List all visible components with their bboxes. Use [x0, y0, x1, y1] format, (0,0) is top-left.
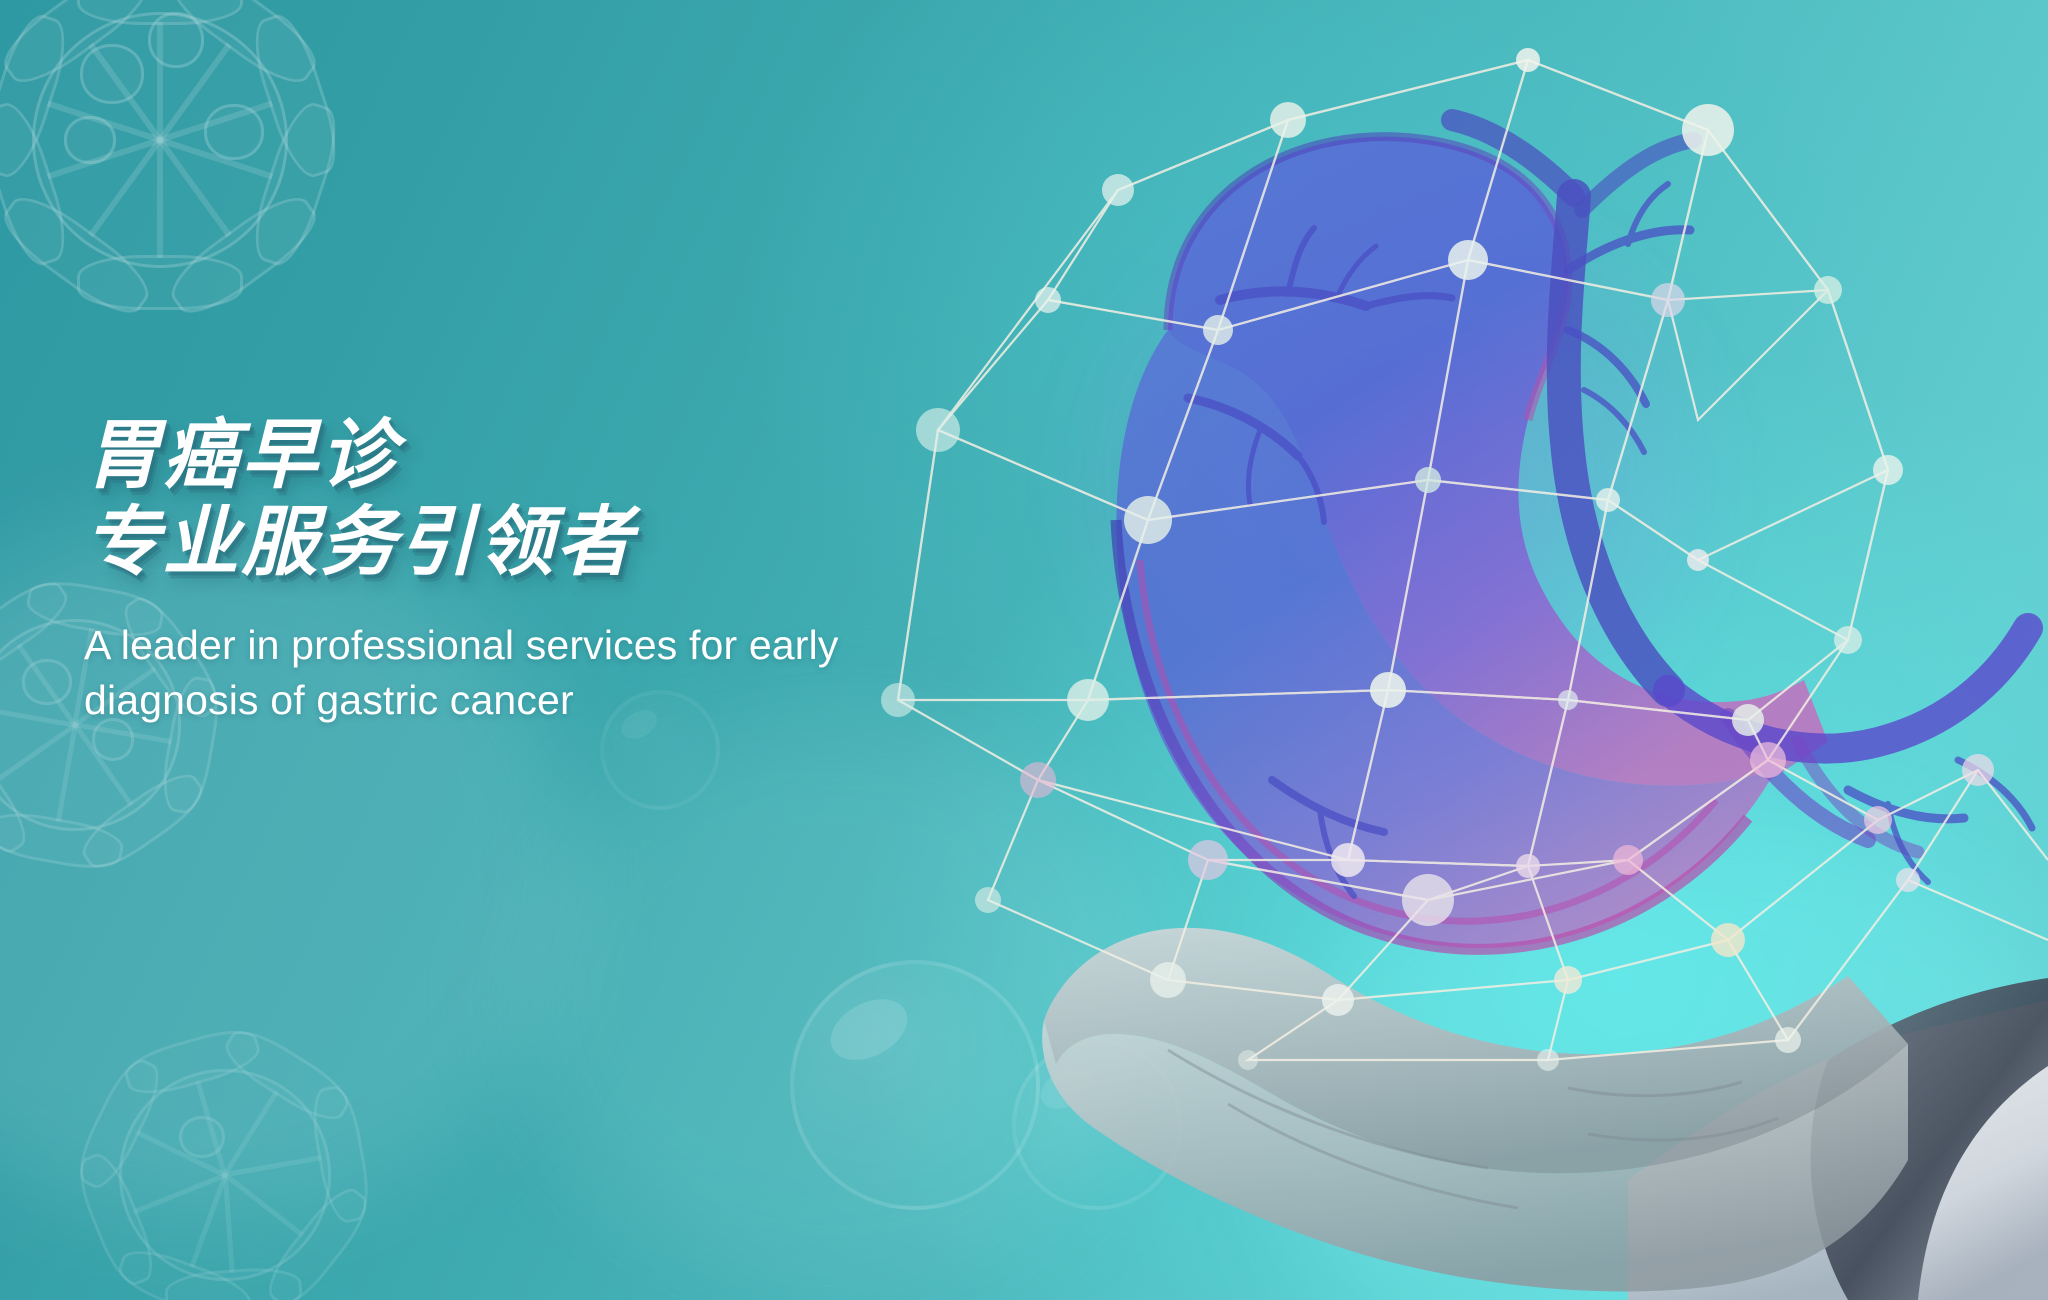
virus-bottom-left-icon [60, 1010, 390, 1300]
subtitle: A leader in professional services for ea… [84, 618, 984, 728]
headline-line-1: 胃癌早诊 [84, 415, 984, 496]
headline-line-2: 专业服务引领者 [84, 502, 984, 583]
subtitle-line-1: A leader in professional services for ea… [84, 618, 984, 673]
subtitle-line-2: diagnosis of gastric cancer [84, 673, 984, 728]
stomach-network-illustration [868, 0, 2048, 1300]
virus-top-left-icon [0, 0, 360, 340]
hero-banner: 胃癌早诊 专业服务引领者 A leader in professional se… [0, 0, 2048, 1300]
hero-copy: 胃癌早诊 专业服务引领者 A leader in professional se… [84, 415, 984, 728]
